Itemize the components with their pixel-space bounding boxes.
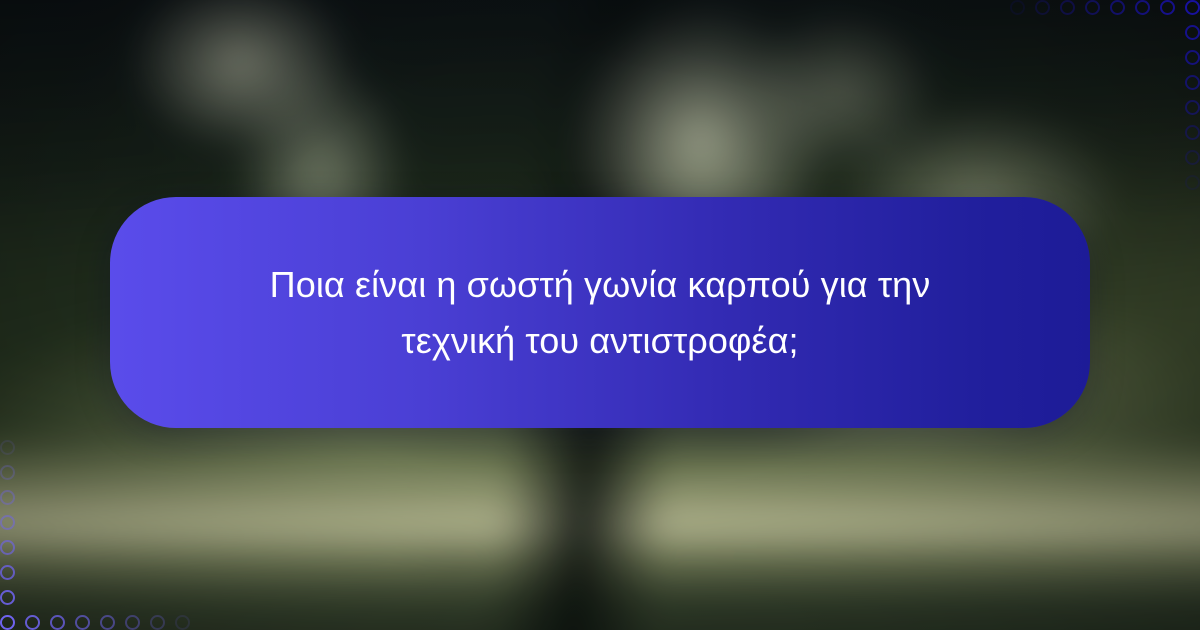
- decorative-dot: [1185, 175, 1200, 190]
- decorative-dot-cluster-top-right: [1004, 0, 1200, 196]
- decorative-dot: [50, 615, 65, 630]
- decorative-dot: [0, 440, 15, 455]
- decorative-dot: [0, 465, 15, 480]
- decorative-dot: [1185, 75, 1200, 90]
- decorative-dot: [100, 615, 115, 630]
- decorative-dot: [1085, 0, 1100, 15]
- social-card-canvas: Ποια είναι η σωστή γωνία καρπού για την …: [0, 0, 1200, 630]
- decorative-dot: [175, 615, 190, 630]
- decorative-dot: [1185, 25, 1200, 40]
- decorative-dot: [1185, 100, 1200, 115]
- decorative-dot: [0, 540, 15, 555]
- decorative-dot: [1135, 0, 1150, 15]
- decorative-dot: [0, 615, 15, 630]
- decorative-dot: [150, 615, 165, 630]
- decorative-dot: [25, 615, 40, 630]
- decorative-dot: [1060, 0, 1075, 15]
- decorative-dot: [1035, 0, 1050, 15]
- question-card: Ποια είναι η σωστή γωνία καρπού για την …: [110, 197, 1090, 428]
- decorative-dot: [0, 515, 15, 530]
- decorative-dot: [1185, 50, 1200, 65]
- decorative-dot: [1185, 125, 1200, 140]
- question-text: Ποια είναι η σωστή γωνία καρπού για την …: [180, 257, 1020, 369]
- decorative-dot: [0, 565, 15, 580]
- decorative-dot: [1160, 0, 1175, 15]
- decorative-dot: [1110, 0, 1125, 15]
- decorative-dot: [1185, 0, 1200, 15]
- decorative-dot: [1010, 0, 1025, 15]
- decorative-dot: [1185, 150, 1200, 165]
- decorative-dot: [75, 615, 90, 630]
- decorative-dot: [0, 590, 15, 605]
- decorative-dot: [0, 490, 15, 505]
- decorative-dot: [125, 615, 140, 630]
- decorative-dot-cluster-bottom-left: [0, 434, 196, 630]
